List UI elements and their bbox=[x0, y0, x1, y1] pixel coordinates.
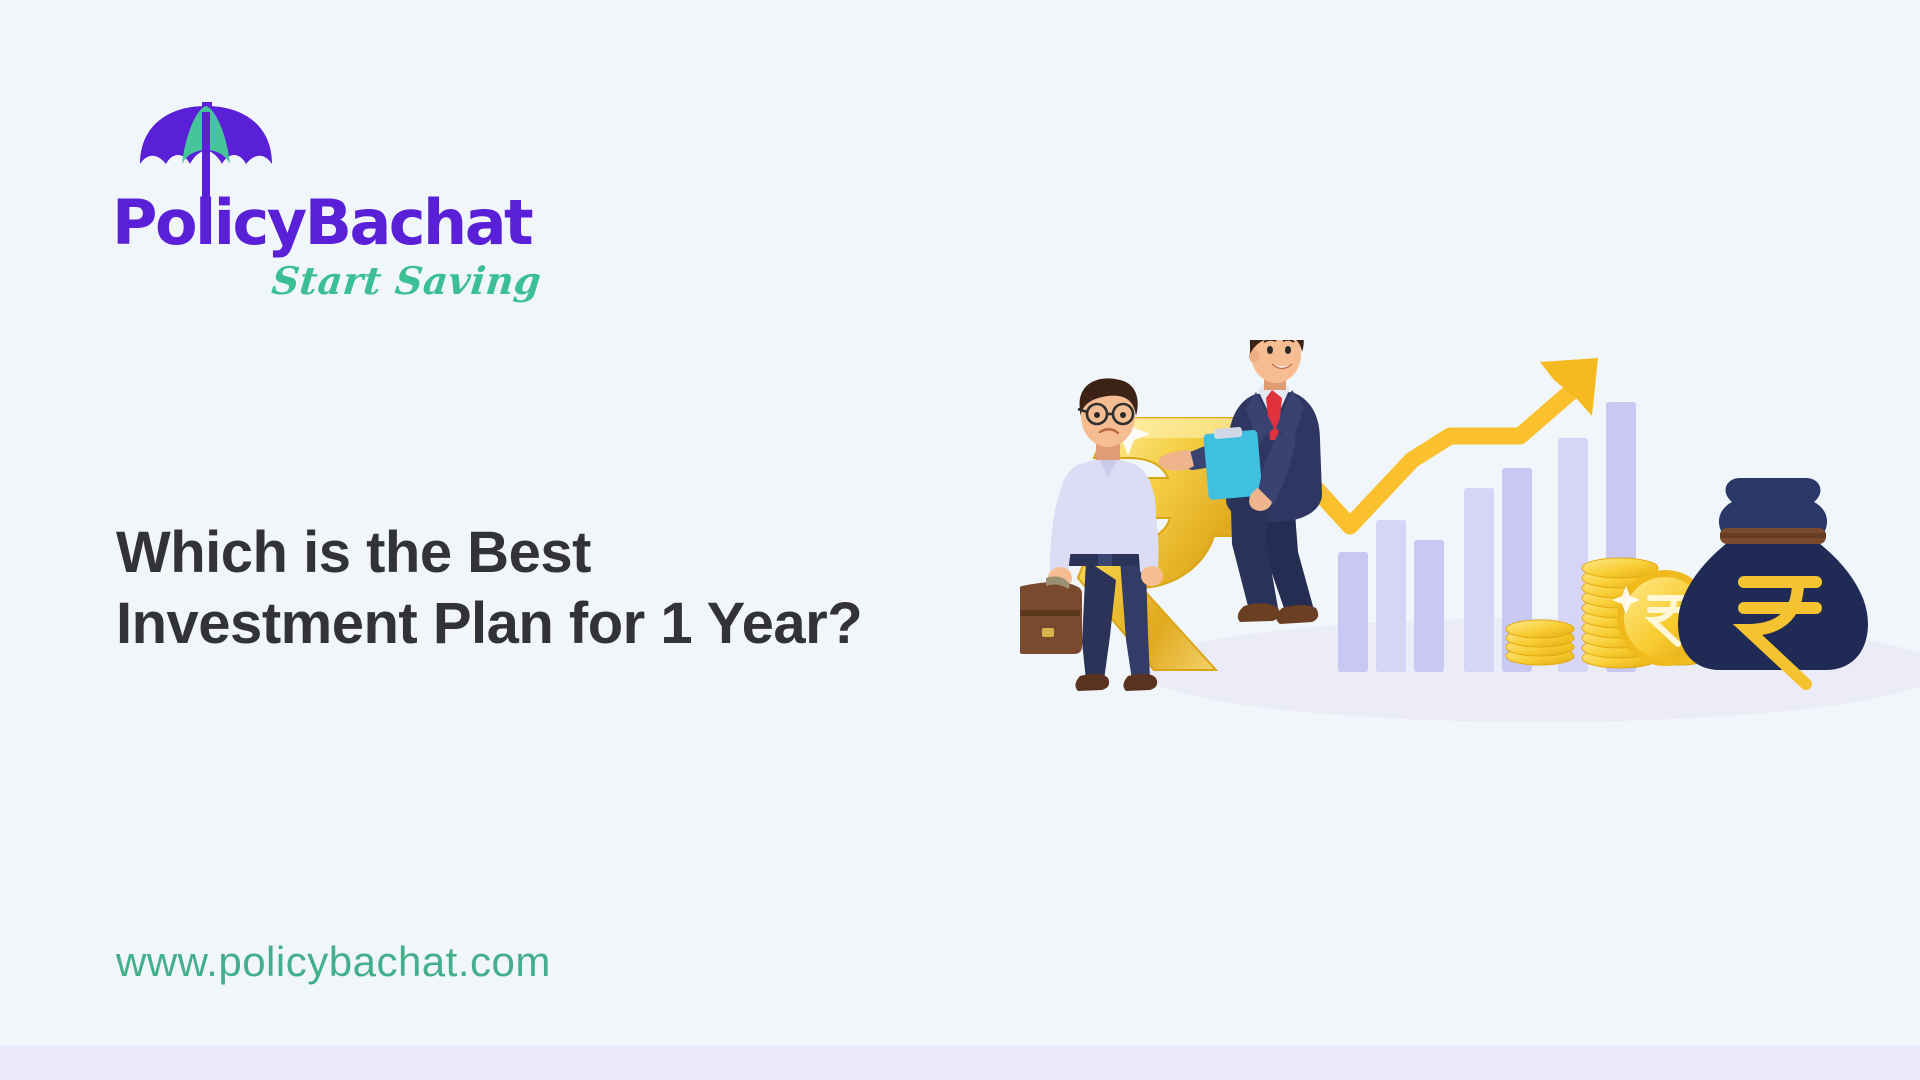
brand-wordmark: PolicyBachat bbox=[112, 192, 531, 254]
footer-bar bbox=[0, 1046, 1920, 1080]
website-url[interactable]: www.policybachat.com bbox=[116, 938, 551, 986]
banner-root: PolicyBachat Start Saving Which is the B… bbox=[0, 0, 1920, 1080]
money-bag bbox=[1678, 478, 1868, 684]
page-title: Which is the Best Investment Plan for 1 … bbox=[116, 518, 896, 660]
umbrella-icon bbox=[136, 100, 276, 200]
brand-logo[interactable]: PolicyBachat Start Saving bbox=[112, 100, 532, 290]
brand-tagline: Start Saving bbox=[270, 258, 544, 303]
investment-growth-illustration bbox=[1020, 340, 1920, 760]
